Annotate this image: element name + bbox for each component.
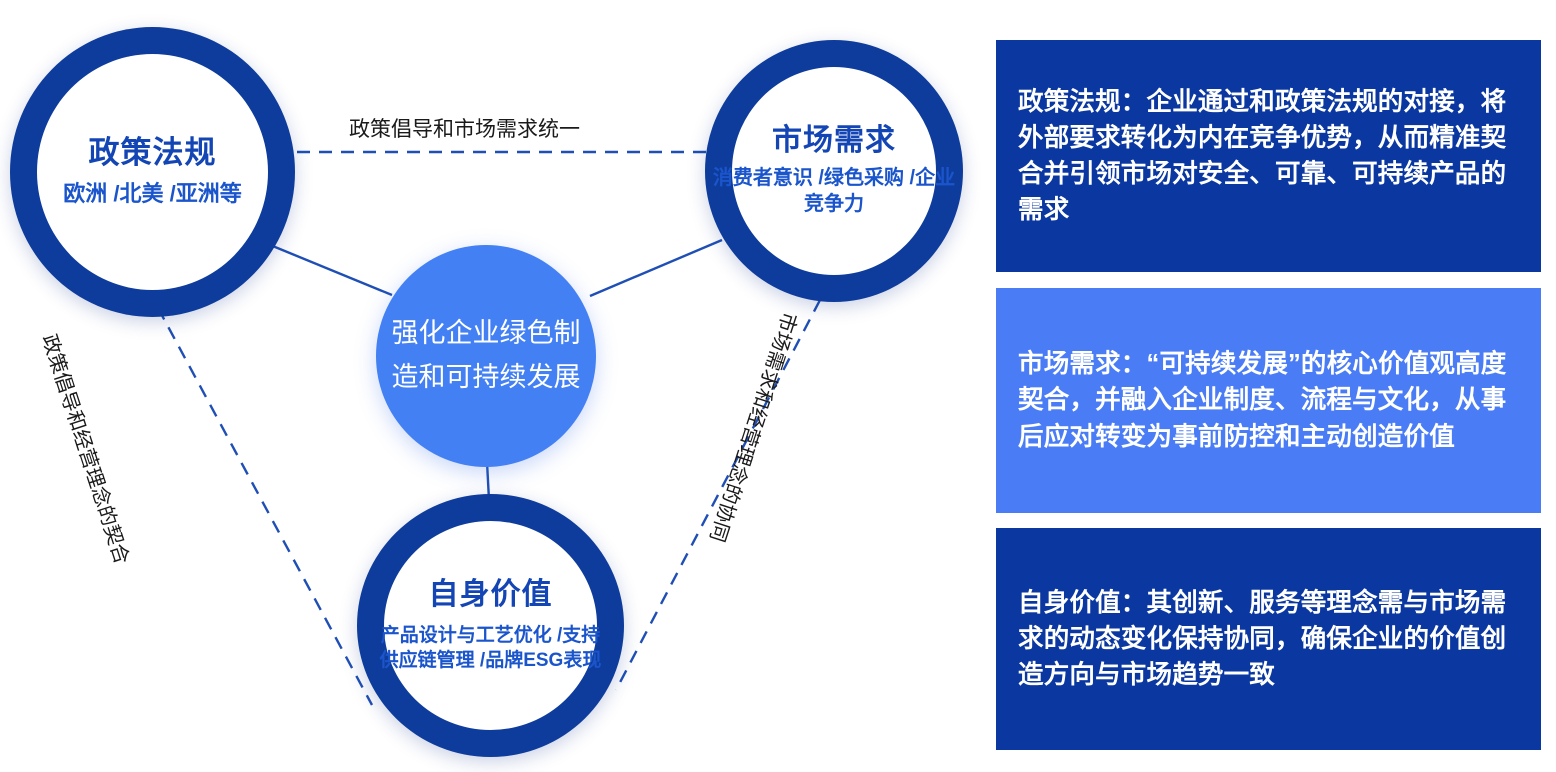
- node-center-text: 强化企业绿色制造和可持续发展: [386, 312, 586, 399]
- edge-policy-self: [158, 308, 372, 705]
- description-text-market: 市场需求：“可持续发展”的核心价值观高度契合，并融入企业制度、流程与文化，从事后…: [1018, 346, 1521, 455]
- description-box-self[interactable]: 自身价值：其创新、服务等理念需与市场需求的动态变化保持协同，确保企业的价值创造方…: [996, 528, 1541, 750]
- spoke-market-center: [590, 240, 722, 296]
- node-center-hub[interactable]: 强化企业绿色制造和可持续发展: [376, 245, 596, 467]
- node-market-subtitle: 消费者意识 /绿色采购 /企业竞争力: [708, 166, 960, 217]
- description-text-policy: 政策法规：企业通过和政策法规的对接，将外部要求转化为内在竞争优势，从而精准契合并…: [1018, 84, 1521, 229]
- description-box-policy[interactable]: 政策法规：企业通过和政策法规的对接，将外部要求转化为内在竞争优势，从而精准契合并…: [996, 40, 1541, 272]
- description-panel: 政策法规：企业通过和政策法规的对接，将外部要求转化为内在竞争优势，从而精准契合并…: [996, 0, 1556, 772]
- spoke-policy-center: [258, 240, 392, 295]
- slide-canvas: 政策法规 欧洲 /北美 /亚洲等 市场需求 消费者意识 /绿色采购 /企业竞争力…: [0, 0, 1556, 772]
- node-market-title: 市场需求: [772, 124, 896, 157]
- node-self-title: 自身价值: [429, 578, 553, 611]
- node-self-subtitle: 产品设计与工艺优化 /支持供应链管理 /品牌ESG表现: [375, 624, 607, 673]
- node-self-value[interactable]: 自身价值 产品设计与工艺优化 /支持供应链管理 /品牌ESG表现: [357, 494, 624, 757]
- node-market-demand[interactable]: 市场需求 消费者意识 /绿色采购 /企业竞争力: [705, 40, 963, 302]
- description-box-market[interactable]: 市场需求：“可持续发展”的核心价值观高度契合，并融入企业制度、流程与文化，从事后…: [996, 288, 1541, 513]
- node-policy-regulation[interactable]: 政策法规 欧洲 /北美 /亚洲等: [10, 27, 295, 317]
- edge-label-policy-market: 政策倡导和市场需求统一: [349, 113, 580, 143]
- node-policy-subtitle: 欧洲 /北美 /亚洲等: [63, 180, 241, 208]
- node-policy-title: 政策法规: [89, 136, 217, 170]
- relationship-diagram: 政策法规 欧洲 /北美 /亚洲等 市场需求 消费者意识 /绿色采购 /企业竞争力…: [0, 0, 996, 772]
- description-text-self: 自身价值：其创新、服务等理念需与市场需求的动态变化保持协同，确保企业的价值创造方…: [1018, 585, 1521, 694]
